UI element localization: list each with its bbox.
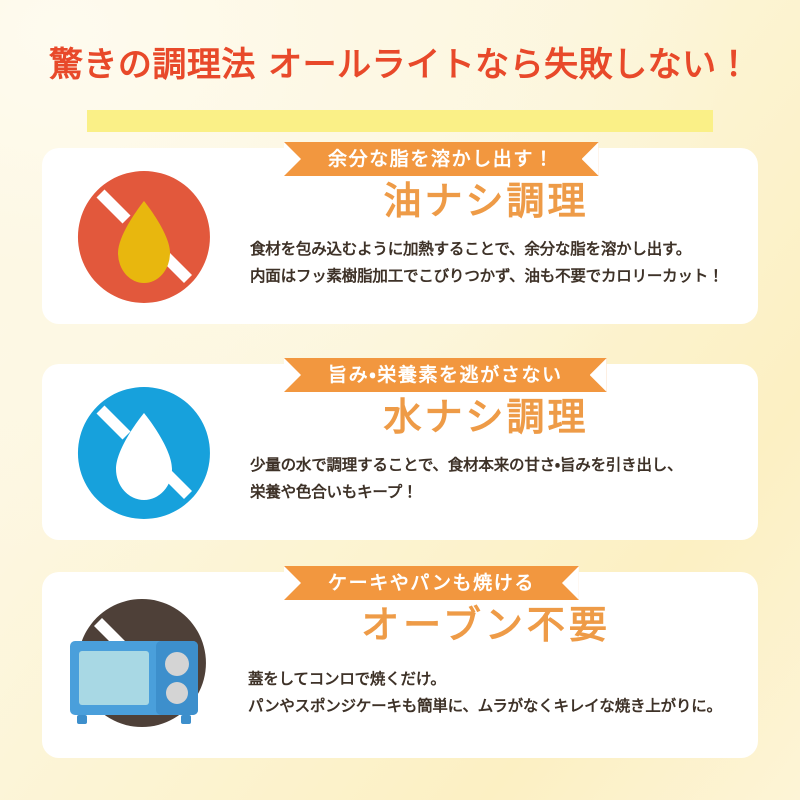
card-description-no-oven: 蓋をしてコンロで焼くだけ。 パンやスポンジケーキも簡単に、ムラがなくキレイな焼き… — [248, 666, 768, 719]
card-ribbon-label: 余分な脂を溶かし出す！ — [328, 142, 555, 176]
no-oil-icon — [56, 156, 232, 318]
card-ribbon-no-water: 旨み・栄養素を逃がさない — [284, 358, 607, 392]
description-line: 栄養や色合いもキープ！ — [250, 479, 770, 506]
feature-card-no-water: 旨み・栄養素を逃がさない 水ナシ調理 少量の水で調理することで、食材本来の甘さ・… — [42, 364, 758, 540]
description-line: 内面はフッ素樹脂加工でこびりつかず、油も不要でカロリーカット！ — [250, 263, 770, 290]
card-body-no-oil: 余分な脂を溶かし出す！ 油ナシ調理 食材を包み込むように加熱することで、余分な脂… — [214, 148, 758, 324]
card-ribbon-label: 旨み・栄養素を逃がさない — [328, 358, 563, 392]
card-heading-no-water: 水ナシ調理 — [214, 396, 758, 440]
card-body-no-oven: ケーキやパンも焼ける オーブン不要 蓋をしてコンロで焼くだけ。 パンやスポンジケ… — [214, 572, 758, 758]
no-water-icon — [56, 372, 232, 534]
headline-highlight-bar — [87, 110, 713, 132]
page-title: 驚きの調理法 オールライトなら失敗しない！ — [43, 48, 757, 82]
description-line: パンやスポンジケーキも簡単に、ムラがなくキレイな焼き上がりに。 — [248, 693, 768, 720]
card-ribbon-label: ケーキやパンも焼ける — [328, 566, 535, 600]
toaster-oven-glyph — [70, 641, 198, 724]
card-ribbon-no-oil: 余分な脂を溶かし出す！ — [284, 142, 599, 176]
card-description-no-oil: 食材を包み込むように加熱することで、余分な脂を溶かし出す。 内面はフッ素樹脂加工… — [250, 236, 770, 289]
card-heading-no-oil: 油ナシ調理 — [214, 180, 758, 224]
page-title-text: 驚きの調理法 オールライトなら失敗しない！ — [49, 45, 751, 85]
card-body-no-water: 旨み・栄養素を逃がさない 水ナシ調理 少量の水で調理することで、食材本来の甘さ・… — [214, 364, 758, 540]
description-line: 食材を包み込むように加熱することで、余分な脂を溶かし出す。 — [250, 236, 770, 263]
feature-card-no-oil: 余分な脂を溶かし出す！ 油ナシ調理 食材を包み込むように加熱することで、余分な脂… — [42, 148, 758, 324]
feature-card-no-oven: ケーキやパンも焼ける オーブン不要 蓋をしてコンロで焼くだけ。 パンやスポンジケ… — [42, 572, 758, 758]
card-heading-no-oven: オーブン不要 — [214, 604, 758, 648]
headline-banner: 驚きの調理法 オールライトなら失敗しない！ — [0, 34, 800, 96]
description-line: 少量の水で調理することで、食材本来の甘さ・旨みを引き出し、 — [250, 452, 770, 479]
no-oven-icon — [56, 586, 232, 748]
description-line: 蓋をしてコンロで焼くだけ。 — [248, 666, 768, 693]
card-ribbon-no-oven: ケーキやパンも焼ける — [284, 566, 579, 600]
card-description-no-water: 少量の水で調理することで、食材本来の甘さ・旨みを引き出し、 栄養や色合いもキープ… — [250, 452, 770, 505]
